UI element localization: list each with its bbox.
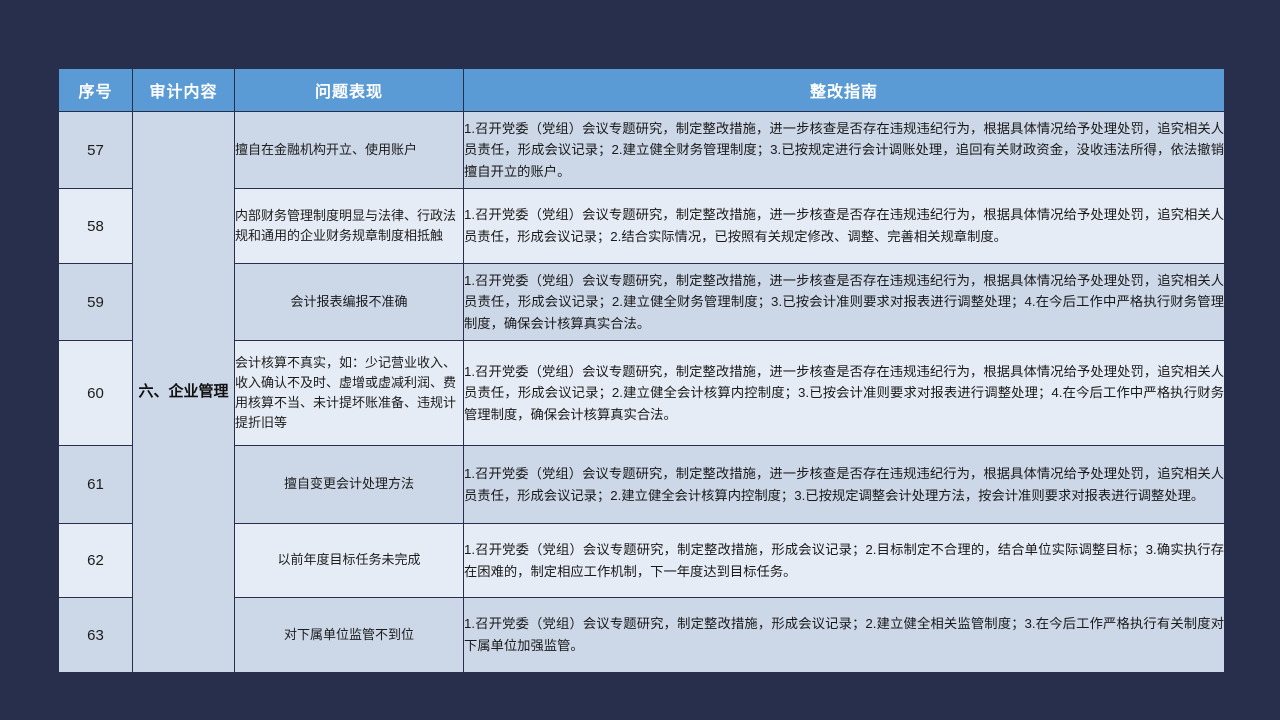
cell-problem-description: 以前年度目标任务未完成 <box>235 524 463 597</box>
column-header-problem: 问题表现 <box>235 69 463 111</box>
cell-rectification-guidance: 1.召开党委（党组）会议专题研究，制定整改措施，进一步核查是否存在违规违纪行为，… <box>464 112 1224 188</box>
cell-problem-description: 内部财务管理制度明显与法律、行政法规和通用的企业财务规章制度相抵触 <box>235 189 463 263</box>
slide-canvas: 序号 审计内容 问题表现 整改指南 57 六、企业管理 擅自在金融机构开立、使用… <box>0 0 1280 720</box>
cell-problem-description: 会计报表编报不准确 <box>235 264 463 340</box>
cell-sequence-number: 60 <box>59 341 132 445</box>
cell-rectification-guidance: 1.召开党委（党组）会议专题研究，制定整改措施，形成会议记录；2.目标制定不合理… <box>464 524 1224 597</box>
cell-sequence-number: 59 <box>59 264 132 340</box>
cell-sequence-number: 57 <box>59 112 132 188</box>
cell-rectification-guidance: 1.召开党委（党组）会议专题研究，制定整改措施，形成会议记录；2.建立健全相关监… <box>464 598 1224 672</box>
cell-problem-description: 擅自在金融机构开立、使用账户 <box>235 112 463 188</box>
table-header: 序号 审计内容 问题表现 整改指南 <box>59 69 1224 111</box>
cell-rectification-guidance: 1.召开党委（党组）会议专题研究，制定整改措施，进一步核查是否存在违规违纪行为，… <box>464 341 1224 445</box>
cell-sequence-number: 58 <box>59 189 132 263</box>
cell-problem-description: 对下属单位监管不到位 <box>235 598 463 672</box>
cell-rectification-guidance: 1.召开党委（党组）会议专题研究，制定整改措施，进一步核查是否存在违规违纪行为，… <box>464 264 1224 340</box>
audit-table-container: 序号 审计内容 问题表现 整改指南 57 六、企业管理 擅自在金融机构开立、使用… <box>58 68 1222 656</box>
cell-rectification-guidance: 1.召开党委（党组）会议专题研究，制定整改措施，进一步核查是否存在违规违纪行为，… <box>464 446 1224 523</box>
column-header-audit-content: 审计内容 <box>133 69 234 111</box>
cell-problem-description: 会计核算不真实，如：少记营业收入、收入确认不及时、虚增或虚减利润、费用核算不当、… <box>235 341 463 445</box>
cell-sequence-number: 62 <box>59 524 132 597</box>
column-header-sequence: 序号 <box>59 69 132 111</box>
cell-audit-category: 六、企业管理 <box>133 112 234 672</box>
cell-rectification-guidance: 1.召开党委（党组）会议专题研究，制定整改措施，进一步核查是否存在违规违纪行为，… <box>464 189 1224 263</box>
table-header-row: 序号 审计内容 问题表现 整改指南 <box>59 69 1224 111</box>
audit-table: 序号 审计内容 问题表现 整改指南 57 六、企业管理 擅自在金融机构开立、使用… <box>58 68 1225 673</box>
cell-sequence-number: 61 <box>59 446 132 523</box>
column-header-guidance: 整改指南 <box>464 69 1224 111</box>
table-row: 57 六、企业管理 擅自在金融机构开立、使用账户 1.召开党委（党组）会议专题研… <box>59 112 1224 188</box>
cell-problem-description: 擅自变更会计处理方法 <box>235 446 463 523</box>
table-body: 57 六、企业管理 擅自在金融机构开立、使用账户 1.召开党委（党组）会议专题研… <box>59 112 1224 672</box>
cell-sequence-number: 63 <box>59 598 132 672</box>
